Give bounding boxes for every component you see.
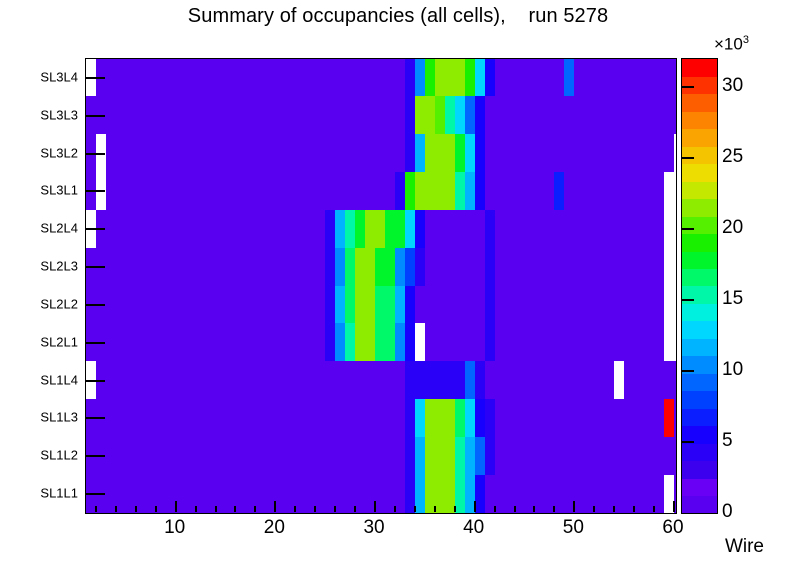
y-axis-tick: [85, 380, 105, 382]
heatmap-cell: [475, 361, 486, 400]
heatmap-cell: [345, 248, 356, 287]
heatmap-cell: [355, 286, 376, 325]
heatmap-cell: [475, 59, 486, 97]
y-axis-tick: [85, 417, 105, 419]
heatmap-cell: [86, 286, 326, 325]
heatmap-cell: [485, 361, 615, 400]
color-scale-tick: [681, 86, 694, 88]
x-axis-label-60: 60: [662, 517, 683, 539]
page-title: Summary of occupancies (all cells), run …: [0, 5, 796, 28]
heatmap-cell: [415, 286, 485, 325]
heatmap-cell: [495, 210, 665, 249]
color-scale-band: [682, 93, 717, 111]
y-axis-label-sl3l1: SL3L1: [0, 183, 78, 198]
color-scale-band: [682, 233, 717, 251]
x-axis-minor-tick: [434, 506, 436, 512]
heatmap-cell: [475, 134, 486, 173]
heatmap-cell: [395, 286, 406, 325]
heatmap-cell: [475, 475, 486, 513]
heatmap-cell: [664, 248, 676, 287]
heatmap-cell: [405, 286, 416, 325]
x-axis-minor-tick: [494, 506, 496, 512]
heatmap-cell: [614, 361, 625, 400]
color-scale-band: [682, 286, 717, 304]
x-axis-minor-tick: [314, 506, 316, 512]
heatmap-cell: [465, 399, 476, 438]
x-axis-title: Wire: [725, 536, 764, 558]
x-axis-minor-tick: [115, 506, 117, 512]
heatmap-cell: [405, 210, 416, 249]
heatmap-cell: [445, 96, 456, 135]
y-axis-label-sl2l1: SL2L1: [0, 334, 78, 349]
heatmap-cell: [425, 248, 485, 287]
heatmap-cell: [674, 399, 676, 438]
heatmap-cell: [664, 399, 675, 438]
heatmap-cell: [405, 248, 416, 287]
heatmap-cell: [415, 475, 426, 513]
heatmap-cell: [485, 134, 675, 173]
heatmap-cell: [664, 323, 676, 362]
heatmap-cell: [495, 399, 665, 438]
color-scale-tick: [681, 228, 694, 230]
color-scale-exponent-power: 3: [743, 34, 749, 46]
x-axis-minor-tick: [414, 506, 416, 512]
heatmap-cell: [664, 210, 676, 249]
color-scale-band: [682, 181, 717, 199]
color-scale-band: [682, 128, 717, 146]
y-axis-label-sl3l3: SL3L3: [0, 107, 78, 122]
heatmap-cell: [624, 361, 676, 400]
heatmap-cell: [395, 248, 406, 287]
heatmap-cell: [355, 210, 366, 249]
heatmap-cell: [485, 59, 496, 97]
x-axis-minor-tick: [234, 506, 236, 512]
x-axis-major-tick: [673, 501, 675, 512]
heatmap-cell: [475, 437, 486, 476]
x-axis-minor-tick: [294, 506, 296, 512]
heatmap-cell: [435, 134, 456, 173]
heatmap-cell: [375, 248, 396, 287]
x-axis-minor-tick: [553, 506, 555, 512]
heatmap-cell: [335, 248, 346, 287]
y-axis-tick: [85, 266, 105, 268]
x-axis-minor-tick: [394, 506, 396, 512]
heatmap-cell: [86, 96, 406, 135]
heatmap-cell: [86, 475, 406, 513]
heatmap-cell: [574, 59, 676, 97]
heatmap-cell: [485, 248, 496, 287]
x-axis-label-40: 40: [463, 517, 484, 539]
heatmap-cell: [485, 286, 496, 325]
color-scale-band: [682, 495, 717, 513]
color-scale-band: [682, 111, 717, 129]
y-axis-tick: [85, 493, 105, 495]
heatmap-cell: [385, 210, 406, 249]
color-scale-band: [682, 443, 717, 461]
x-axis-minor-tick: [155, 506, 157, 512]
heatmap-cell: [415, 361, 465, 400]
color-scale-band: [682, 460, 717, 478]
heatmap-cell: [405, 361, 416, 400]
color-scale-band: [682, 320, 717, 338]
color-scale-band: [682, 373, 717, 391]
heatmap-cell: [345, 323, 356, 362]
color-scale-band: [682, 408, 717, 426]
color-scale-band: [682, 59, 717, 77]
x-axis-minor-tick: [454, 506, 456, 512]
color-scale-label-25: 25: [722, 146, 743, 168]
x-axis-minor-tick: [653, 506, 655, 512]
color-scale-tick: [681, 441, 694, 443]
heatmap-cell: [475, 172, 486, 211]
x-axis-minor-tick: [254, 506, 256, 512]
heatmap-cell: [96, 361, 406, 400]
color-scale-band: [682, 198, 717, 216]
heatmap-cell: [554, 172, 565, 211]
color-scale-label-30: 30: [722, 75, 743, 97]
heatmap-cell: [465, 437, 476, 476]
heatmap-cell: [425, 475, 455, 513]
heatmap-cell: [425, 399, 455, 438]
heatmap-cell: [405, 399, 416, 438]
color-scale-band: [682, 478, 717, 496]
heatmap-cell: [405, 323, 416, 362]
x-axis-major-tick: [374, 501, 376, 512]
heatmap-cell: [425, 59, 436, 97]
heatmap-cell: [405, 172, 416, 211]
heatmap-cell: [465, 96, 476, 135]
heatmap-cell: [106, 172, 396, 211]
heatmap-cell: [415, 96, 436, 135]
x-axis-minor-tick: [533, 506, 535, 512]
heatmap-cell: [415, 399, 426, 438]
color-scale-exponent: ×103: [714, 34, 749, 55]
heatmap-cells: [86, 59, 676, 513]
x-axis-minor-tick: [215, 506, 217, 512]
heatmap-cell: [485, 399, 496, 438]
color-scale-label-0: 0: [722, 501, 733, 523]
x-axis-major-tick: [474, 501, 476, 512]
y-axis-label-sl3l2: SL3L2: [0, 145, 78, 160]
heatmap-cell: [405, 96, 416, 135]
heatmap-cell: [86, 437, 406, 476]
color-scale-band: [682, 163, 717, 181]
heatmap-cell: [415, 59, 426, 97]
y-axis-label-sl2l2: SL2L2: [0, 296, 78, 311]
heatmap-cell: [564, 59, 575, 97]
x-axis-minor-tick: [514, 506, 516, 512]
x-axis-minor-tick: [334, 506, 336, 512]
heatmap-cell: [375, 286, 396, 325]
y-axis-label-sl1l4: SL1L4: [0, 372, 78, 387]
heatmap-cell: [355, 248, 376, 287]
color-scale-bar: [681, 58, 718, 514]
heatmap-cell: [395, 323, 406, 362]
color-scale-band: [682, 303, 717, 321]
color-scale-label-5: 5: [722, 430, 733, 452]
color-scale-tick: [681, 370, 694, 372]
x-axis-minor-tick: [195, 506, 197, 512]
color-scale-band: [682, 146, 717, 164]
heatmap-cell: [465, 172, 476, 211]
color-scale-band: [682, 216, 717, 234]
heatmap-cell: [96, 210, 326, 249]
x-axis-minor-tick: [354, 506, 356, 512]
heatmap-cell: [465, 134, 476, 173]
x-axis-minor-tick: [633, 506, 635, 512]
heatmap-cell: [415, 134, 426, 173]
heatmap-cell: [106, 134, 406, 173]
y-axis-tick: [85, 115, 105, 117]
heatmap-cell: [415, 172, 455, 211]
y-axis-label-sl1l2: SL1L2: [0, 448, 78, 463]
color-scale-band: [682, 268, 717, 286]
y-axis-tick: [85, 153, 105, 155]
heatmap-cell: [475, 399, 486, 438]
x-axis-major-tick: [573, 501, 575, 512]
y-axis-tick: [85, 228, 105, 230]
heatmap-cell: [485, 172, 555, 211]
heatmap-cell: [415, 323, 426, 362]
heatmap-cell: [425, 210, 485, 249]
y-axis-tick: [85, 304, 105, 306]
heatmap-cell: [375, 323, 396, 362]
heatmap-cell: [345, 286, 356, 325]
color-scale-band: [682, 251, 717, 269]
heatmap-cell: [405, 134, 416, 173]
color-scale-label-10: 10: [722, 359, 743, 381]
heatmap-cell: [435, 59, 465, 97]
heatmap-cell: [96, 59, 406, 97]
x-axis-label-10: 10: [164, 517, 185, 539]
heatmap-cell: [365, 210, 386, 249]
x-axis-label-50: 50: [563, 517, 584, 539]
heatmap-cell: [495, 248, 665, 287]
heatmap-cell: [664, 172, 676, 211]
x-axis-minor-tick: [135, 506, 137, 512]
heatmap-cell: [425, 323, 485, 362]
heatmap-cell: [425, 437, 455, 476]
y-axis-label-sl3l4: SL3L4: [0, 69, 78, 84]
color-scale-label-20: 20: [722, 217, 743, 239]
root-canvas: Summary of occupancies (all cells), run …: [0, 0, 796, 572]
heatmap-cell: [495, 286, 665, 325]
x-axis-label-20: 20: [264, 517, 285, 539]
heatmap-cell: [465, 361, 476, 400]
heatmap-cell: [415, 248, 426, 287]
heatmap-cell: [415, 210, 426, 249]
plot-frame: [85, 58, 677, 514]
heatmap-cell: [86, 323, 326, 362]
y-axis-tick: [85, 77, 105, 79]
y-axis-tick: [85, 455, 105, 457]
color-scale-label-15: 15: [722, 288, 743, 310]
color-scale-exponent-base: ×10: [714, 35, 743, 54]
heatmap-cell: [335, 286, 346, 325]
heatmap-cell: [405, 59, 416, 97]
heatmap-cell: [485, 96, 676, 135]
heatmap-cell: [495, 323, 665, 362]
heatmap-cell: [485, 323, 496, 362]
y-axis-label-sl1l1: SL1L1: [0, 486, 78, 501]
heatmap-cell: [485, 437, 496, 476]
heatmap-cell: [335, 323, 346, 362]
heatmap-cell: [86, 248, 326, 287]
heatmap-cell: [405, 437, 416, 476]
heatmap-cell: [335, 210, 346, 249]
heatmap-cell: [664, 286, 676, 325]
heatmap-cell: [465, 59, 476, 97]
heatmap-cell: [495, 59, 565, 97]
heatmap-cell: [415, 437, 426, 476]
color-scale-tick: [681, 157, 694, 159]
heatmap-cell: [435, 96, 446, 135]
heatmap-cell: [485, 210, 496, 249]
color-scale-band: [682, 390, 717, 408]
y-axis-tick: [85, 342, 105, 344]
x-axis-minor-tick: [593, 506, 595, 512]
y-axis-label-sl1l3: SL1L3: [0, 410, 78, 425]
y-axis-label-sl2l4: SL2L4: [0, 221, 78, 236]
x-axis-label-30: 30: [363, 517, 384, 539]
heatmap-cell: [395, 172, 406, 211]
x-axis-major-tick: [274, 501, 276, 512]
color-scale-tick: [681, 299, 694, 301]
heatmap-cell: [86, 399, 406, 438]
heatmap-cell: [425, 134, 436, 173]
x-axis-major-tick: [175, 501, 177, 512]
y-axis-tick: [85, 190, 105, 192]
x-axis-minor-tick: [95, 506, 97, 512]
y-axis-label-sl2l3: SL2L3: [0, 259, 78, 274]
heatmap-cell: [564, 172, 664, 211]
heatmap-cell: [495, 437, 676, 476]
x-axis-minor-tick: [613, 506, 615, 512]
heatmap-cell: [345, 210, 356, 249]
heatmap-cell: [674, 134, 676, 173]
heatmap-cell: [475, 96, 486, 135]
heatmap-cell: [355, 323, 376, 362]
color-scale-band: [682, 338, 717, 356]
